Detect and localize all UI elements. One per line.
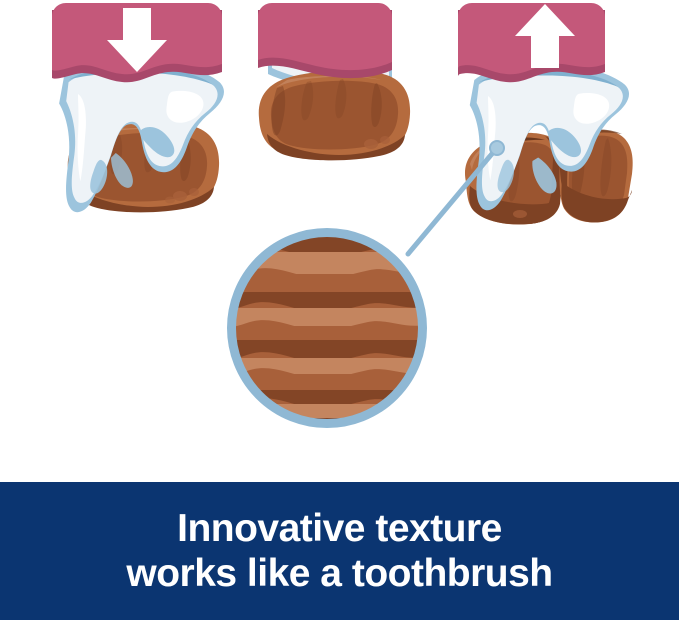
panel-3-gum [458, 3, 605, 82]
image-root: Innovative texture works like a toothbru… [0, 0, 679, 620]
panel-1-group [52, 3, 224, 212]
illustration-svg [0, 0, 679, 482]
panel-2-group [258, 3, 410, 160]
caption-line-2: works like a toothbrush [126, 551, 552, 596]
panel-3-group [458, 3, 633, 225]
caption-banner: Innovative texture works like a toothbru… [0, 482, 679, 620]
magnifier [228, 229, 428, 429]
caption-line-1: Innovative texture [177, 506, 502, 551]
panel-2-kibble [259, 71, 410, 161]
panel-1-gum [52, 3, 222, 82]
illustration-area [0, 0, 679, 482]
